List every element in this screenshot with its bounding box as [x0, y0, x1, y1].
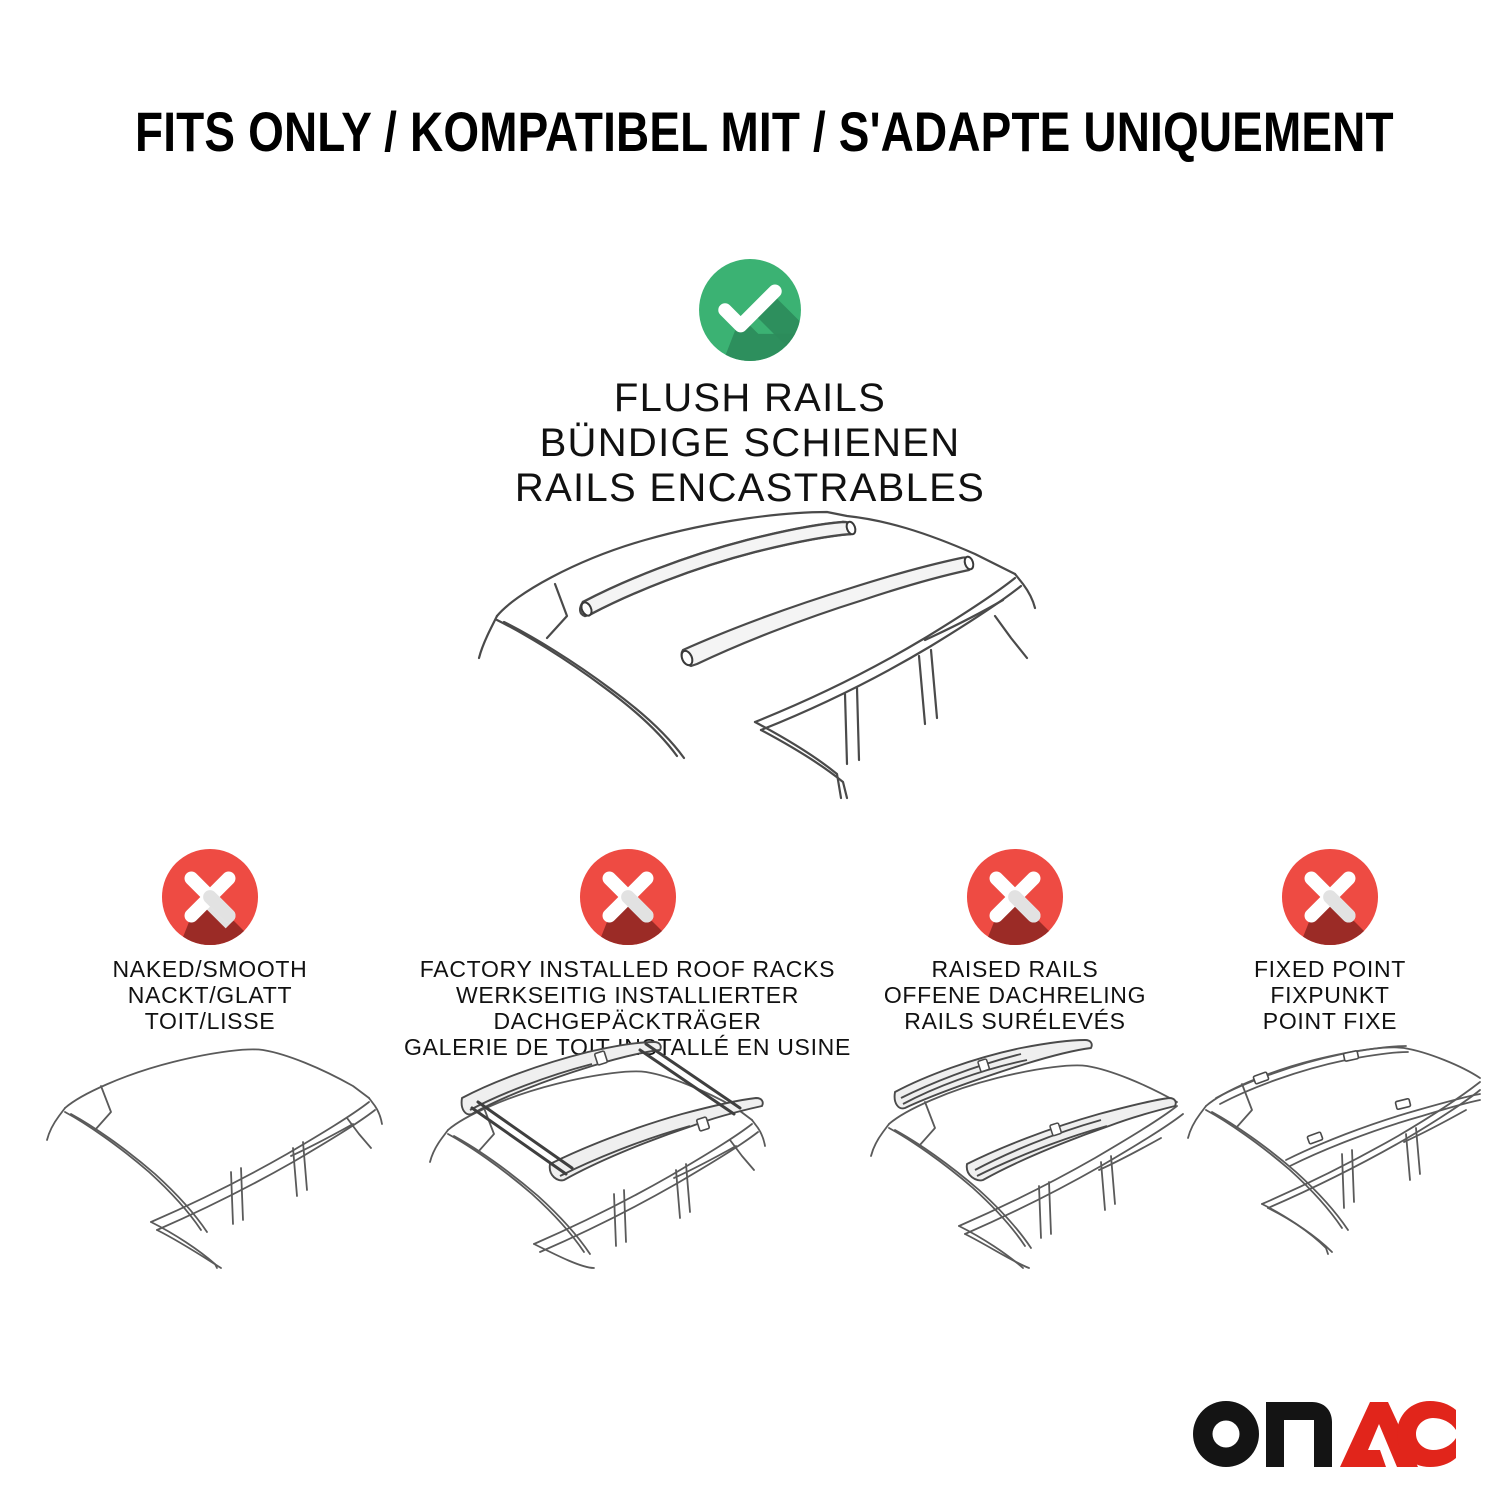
logo-letter-m: [1266, 1402, 1332, 1467]
incompatible-section: NAKED/SMOOTH NACKT/GLATT TOIT/LISSE: [0, 848, 1500, 1468]
incompatible-item-fixed-point: FIXED POINT FIXPUNKT POINT FIXE: [1180, 848, 1480, 1034]
incompatible-labels-raised-rails: RAISED RAILS OFFENE DACHRELING RAILS SUR…: [855, 956, 1175, 1034]
car-roof-naked-smooth-illustration: [35, 1038, 385, 1268]
label-en: RAISED RAILS: [855, 956, 1175, 982]
check-circle-icon: [698, 258, 802, 362]
x-circle-icon: [579, 848, 677, 946]
compatible-labels: FLUSH RAILS BÜNDIGE SCHIENEN RAILS ENCAS…: [0, 376, 1500, 511]
compatible-section: FLUSH RAILS BÜNDIGE SCHIENEN RAILS ENCAS…: [0, 258, 1500, 511]
x-circle-icon: [966, 848, 1064, 946]
label-de-1: WERKSEITIG INSTALLIERTER: [400, 982, 855, 1008]
car-roof-factory-racks-illustration: [400, 1038, 855, 1268]
label-fr: TOIT/LISSE: [35, 1008, 385, 1034]
page-title: FITS ONLY / KOMPATIBEL MIT / S'ADAPTE UN…: [135, 104, 1365, 160]
label-fr: RAILS SURÉLEVÉS: [855, 1008, 1175, 1034]
car-roof-flush-rails-illustration: [455, 498, 1055, 798]
car-roof-fixed-point-illustration: [1180, 1038, 1480, 1268]
x-circle-icon: [161, 848, 259, 946]
omac-logo: OMAC: [1190, 1390, 1458, 1470]
infographic-page: FITS ONLY / KOMPATIBEL MIT / S'ADAPTE UN…: [0, 0, 1500, 1500]
label-de-2: DACHGEPÄCKTRÄGER: [400, 1008, 855, 1034]
incompatible-labels-naked-smooth: NAKED/SMOOTH NACKT/GLATT TOIT/LISSE: [35, 956, 385, 1034]
compatible-label-de: BÜNDIGE SCHIENEN: [0, 421, 1500, 466]
label-de: FIXPUNKT: [1180, 982, 1480, 1008]
incompatible-labels-fixed-point: FIXED POINT FIXPUNKT POINT FIXE: [1180, 956, 1480, 1034]
label-en: FIXED POINT: [1180, 956, 1480, 982]
incompatible-item-factory-racks: FACTORY INSTALLED ROOF RACKS WERKSEITIG …: [400, 848, 855, 1060]
incompatible-item-raised-rails: RAISED RAILS OFFENE DACHRELING RAILS SUR…: [855, 848, 1175, 1034]
label-fr: POINT FIXE: [1180, 1008, 1480, 1034]
label-de: NACKT/GLATT: [35, 982, 385, 1008]
x-circle-icon: [1281, 848, 1379, 946]
label-de: OFFENE DACHRELING: [855, 982, 1175, 1008]
logo-letter-o: [1193, 1401, 1259, 1467]
compatible-label-en: FLUSH RAILS: [0, 376, 1500, 421]
header: FITS ONLY / KOMPATIBEL MIT / S'ADAPTE UN…: [0, 104, 1500, 160]
label-en: NAKED/SMOOTH: [35, 956, 385, 982]
label-en: FACTORY INSTALLED ROOF RACKS: [400, 956, 855, 982]
incompatible-item-naked-smooth: NAKED/SMOOTH NACKT/GLATT TOIT/LISSE: [35, 848, 385, 1034]
car-roof-raised-rails-illustration: [855, 1038, 1175, 1268]
